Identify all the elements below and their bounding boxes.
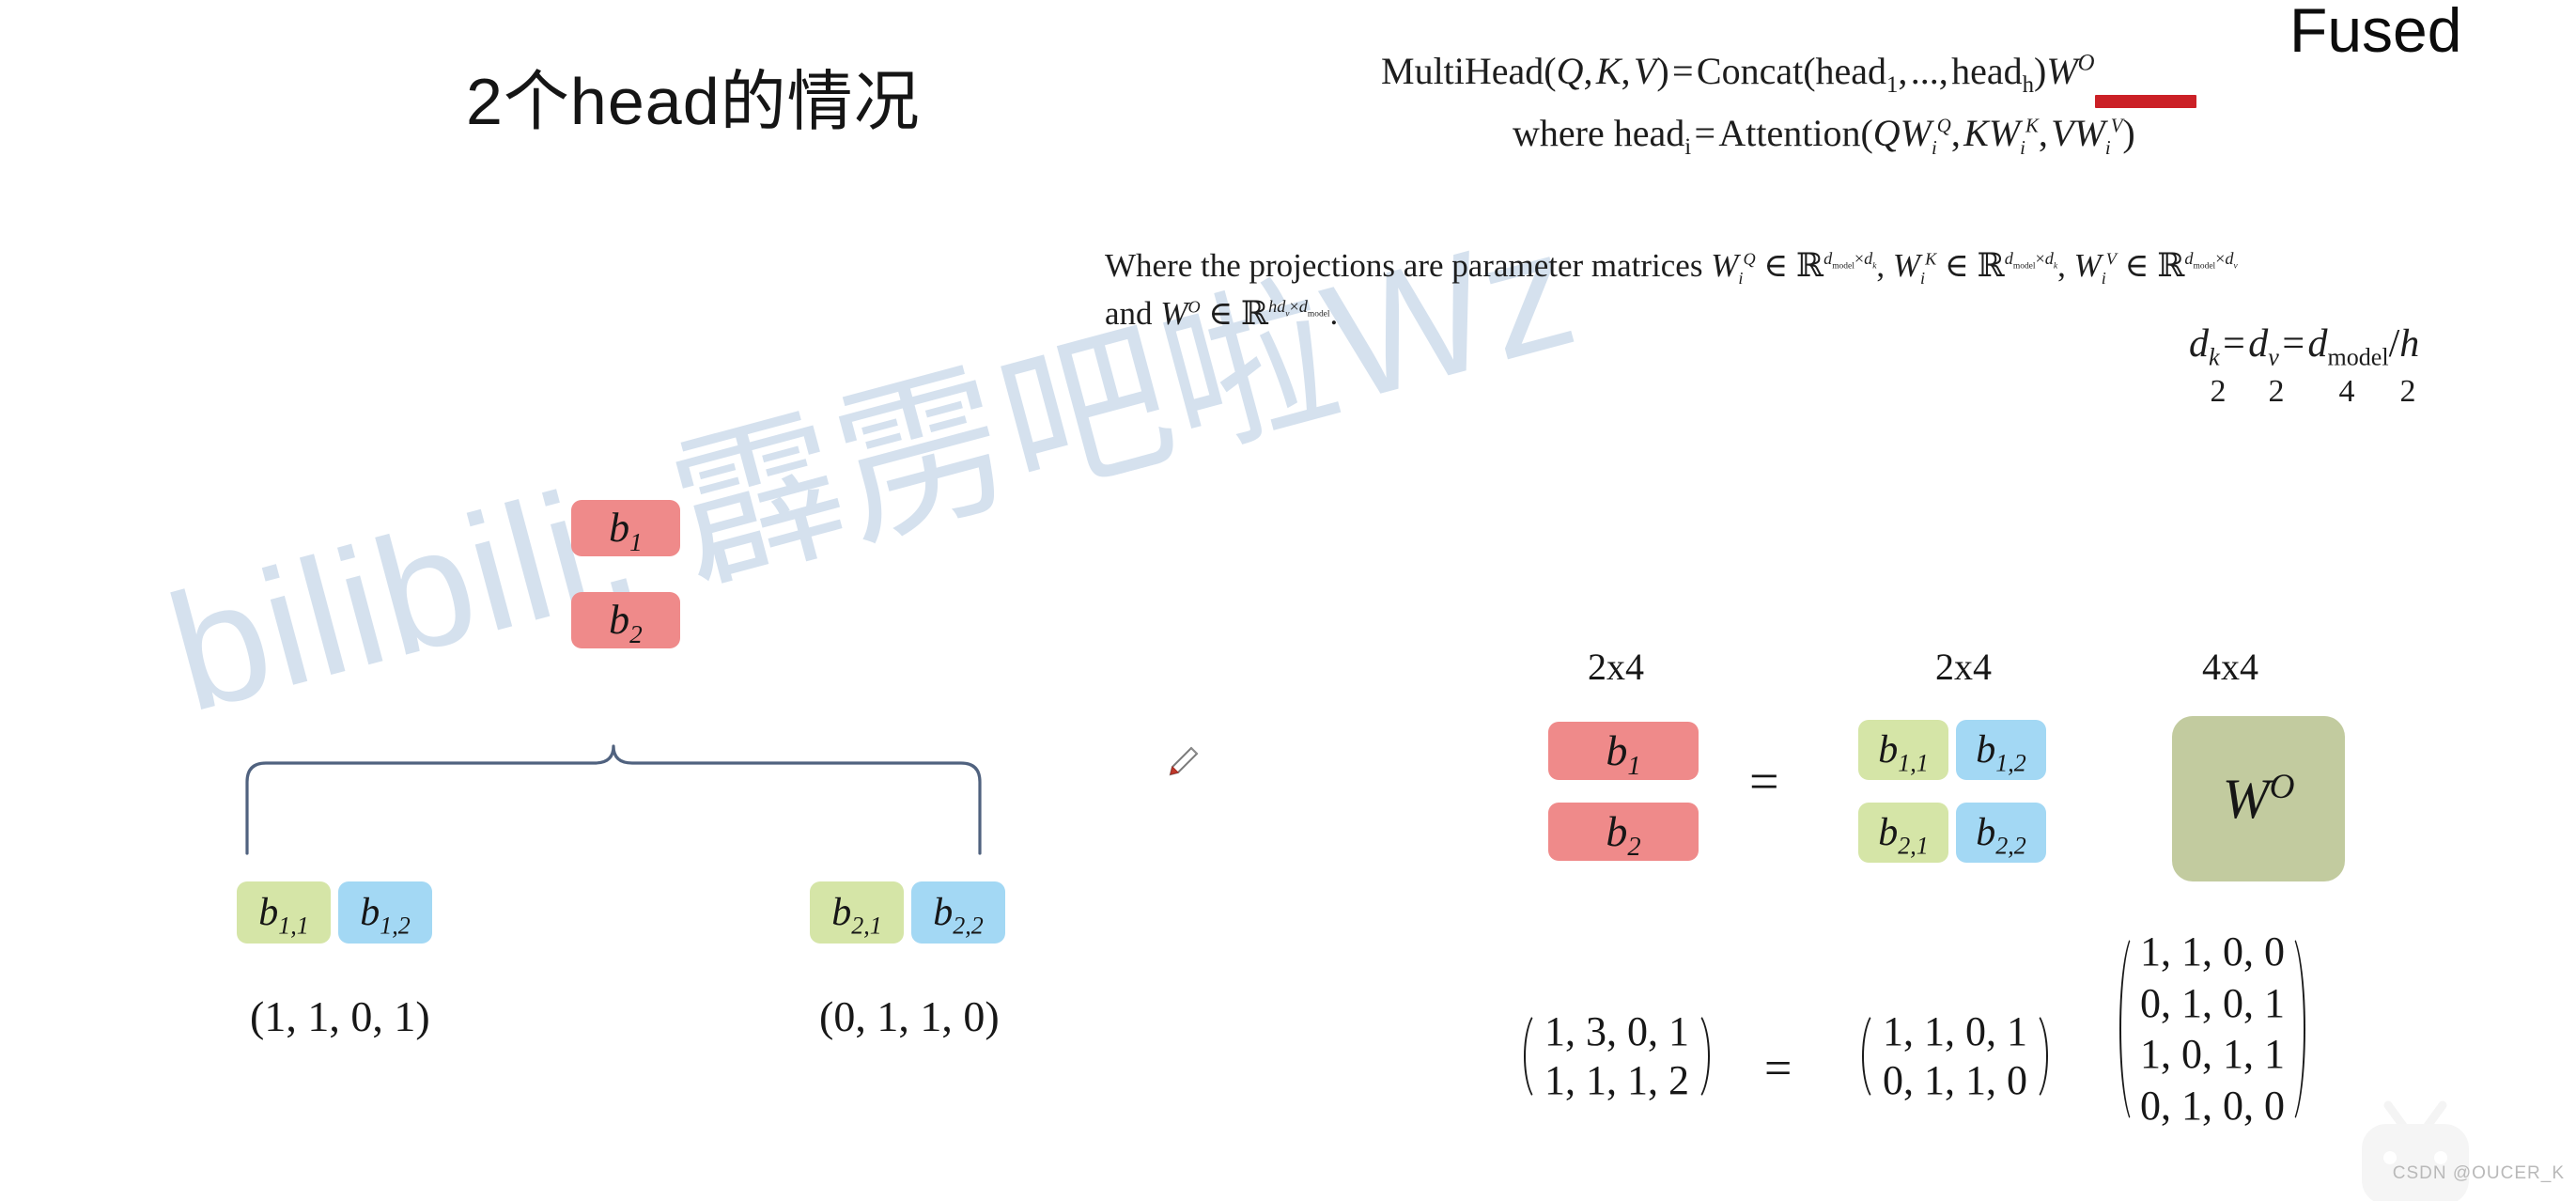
- cell-label-base: b: [1878, 811, 1898, 854]
- matrix-weights: 1, 1, 0, 0 0, 1, 0, 1 1, 0, 1, 1 0, 1, 0…: [2119, 927, 2305, 1131]
- dk-value-1: 2: [2245, 374, 2307, 410]
- cell-label-sub: 2,2: [953, 912, 984, 939]
- concat-cell-b12: b1,2: [1956, 720, 2046, 780]
- bilibili-watermark: bilibili: 霹雳吧啦Wz: [141, 113, 1746, 759]
- matrix-row: 1, 1, 1, 2: [1544, 1056, 1689, 1105]
- cell-label-sub: 2: [629, 620, 643, 648]
- output-cell-b1: b1: [571, 500, 680, 556]
- dk-value-2: 4: [2307, 374, 2386, 410]
- dk-value-3: 2: [2386, 374, 2429, 410]
- cell-label-sub: 1,1: [278, 912, 309, 939]
- right-cell-b1: b1: [1548, 722, 1699, 780]
- head-cell-b12: b1,2: [338, 881, 432, 944]
- equals-sign-top: =: [1749, 752, 1779, 812]
- head-cell-b11: b1,1: [237, 881, 331, 944]
- head2-vector: (0, 1, 1, 0): [819, 991, 1000, 1041]
- dk-values: 2242: [2191, 374, 2429, 410]
- cell-label-sub: 2,1: [851, 912, 882, 939]
- dk-value-0: 2: [2191, 374, 2245, 410]
- head-cell-b21: b2,1: [810, 881, 904, 944]
- wo-label-base: W: [2223, 768, 2270, 830]
- paren-left-icon: [1524, 1007, 1544, 1105]
- wo-matrix-box: WO: [2172, 716, 2345, 881]
- page-title: 2个head的情况: [466, 49, 921, 144]
- head1-vector: (1, 1, 0, 1): [250, 991, 430, 1041]
- equals-sign-bottom: =: [1764, 1041, 1792, 1097]
- concat-cell-b22: b2,2: [1956, 803, 2046, 863]
- dim-label-concat: 2x4: [1935, 645, 1992, 689]
- cell-label-base: b: [609, 505, 629, 551]
- matrix-row: 0, 1, 1, 0: [1883, 1056, 2027, 1105]
- cell-label-base: b: [933, 891, 953, 934]
- paren-left-icon: [1862, 1007, 1883, 1105]
- cell-label-sub: 2,1: [1898, 832, 1929, 859]
- dim-label-output: 2x4: [1588, 645, 1644, 689]
- cell-label-sub: 1,1: [1898, 749, 1929, 776]
- paren-right-icon: [1689, 1007, 1710, 1105]
- cell-label-base: b: [831, 891, 851, 934]
- concat-cell-b11: b1,1: [1858, 720, 1948, 780]
- cell-label-base: b: [1878, 728, 1898, 772]
- matrix-row: 1, 1, 0, 0: [2140, 927, 2285, 978]
- pen-cursor-icon: [1163, 742, 1203, 782]
- right-cell-b2: b2: [1548, 803, 1699, 861]
- matrix-concat: 1, 1, 0, 1 0, 1, 1, 0: [1862, 1007, 2048, 1105]
- cell-label-base: b: [360, 891, 380, 934]
- dk-equation: dk = dv = dmodel/h: [2189, 321, 2419, 367]
- concat-cell-b21: b2,1: [1858, 803, 1948, 863]
- bilibili-logo-icon: [2345, 1096, 2486, 1201]
- cell-label-base: b: [1606, 726, 1627, 774]
- wo-label-sup: O: [2270, 768, 2295, 806]
- dim-label-wo: 4x4: [2202, 645, 2258, 689]
- cell-label-sub: 2: [1627, 833, 1640, 862]
- output-cell-b2: b2: [571, 592, 680, 648]
- slide-canvas: bilibili: 霹雳吧啦Wz 2个head的情况 Fused MultiHe…: [0, 0, 2576, 1201]
- cell-label-base: b: [1606, 807, 1627, 855]
- head-cell-b22: b2,2: [911, 881, 1005, 944]
- matrix-row: 0, 1, 0, 1: [2140, 978, 2285, 1030]
- csdn-watermark: CSDN @OUCER_K: [2393, 1163, 2565, 1184]
- cell-label-sub: 1: [1627, 752, 1640, 781]
- cell-label-base: b: [1976, 728, 1995, 772]
- fused-title: Fused: [2289, 0, 2461, 66]
- curly-brace: [240, 742, 991, 855]
- cell-label-sub: 1,2: [1995, 749, 2026, 776]
- cell-label-base: b: [258, 891, 278, 934]
- cell-label-sub: 1,2: [380, 912, 411, 939]
- where-head-formula: where headi = Attention(QWiQ, KWiK, VWiV…: [1513, 111, 2135, 155]
- red-underline-annotation: [2095, 95, 2196, 108]
- paren-right-icon: [2027, 1007, 2048, 1105]
- multihead-formula: MultiHead(Q, K, V) = Concat(head1, ..., …: [1381, 49, 2095, 93]
- matrix-result: 1, 3, 0, 1 1, 1, 1, 2: [1524, 1007, 1710, 1105]
- cell-label-base: b: [609, 597, 629, 643]
- matrix-row: 1, 3, 0, 1: [1544, 1007, 1689, 1056]
- matrix-row: 1, 1, 0, 1: [1883, 1007, 2027, 1056]
- matrix-row: 1, 0, 1, 1: [2140, 1029, 2285, 1081]
- cell-label-base: b: [1976, 811, 1995, 854]
- paren-left-icon: [2119, 927, 2140, 1131]
- paren-right-icon: [2285, 927, 2305, 1131]
- cell-label-sub: 1: [629, 528, 643, 556]
- matrix-row: 0, 1, 0, 0: [2140, 1081, 2285, 1132]
- cell-label-sub: 2,2: [1995, 832, 2026, 859]
